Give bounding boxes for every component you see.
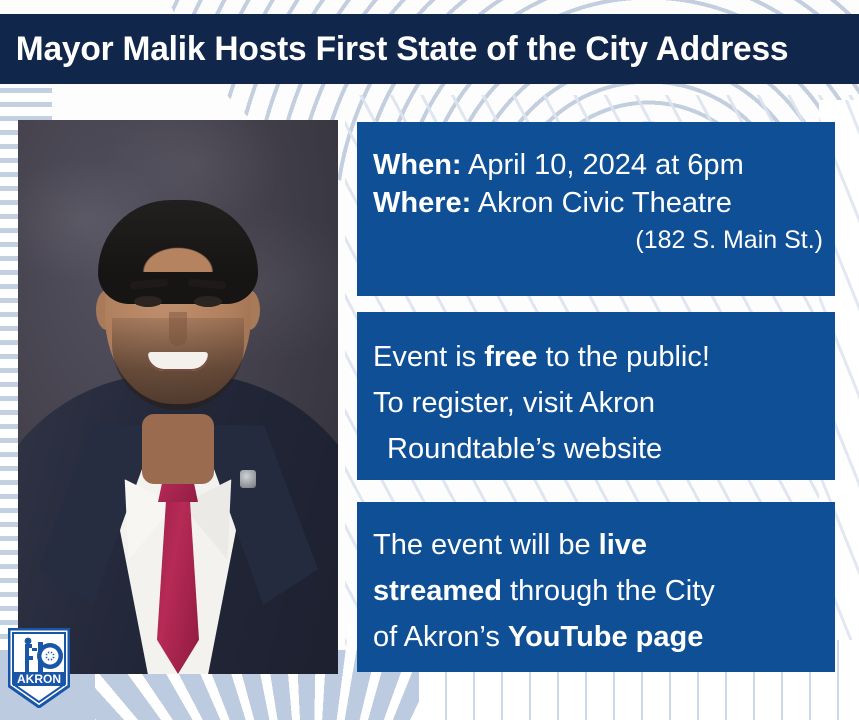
page-title: Mayor Malik Hosts First State of the Cit…	[0, 30, 788, 69]
portrait-eye-left	[134, 296, 162, 307]
akron-logo-icon: AKRON	[8, 628, 70, 708]
streamed-emphasis: streamed	[373, 575, 502, 607]
when-value: April 10, 2024 at 6pm	[462, 149, 744, 181]
portrait-smile	[148, 352, 208, 371]
live-line-1: The event will be live	[373, 522, 823, 568]
mayor-portrait-photo	[18, 120, 338, 674]
free-line-1-c: to the public!	[537, 341, 710, 373]
portrait-eye-right	[194, 296, 222, 307]
header-banner: Mayor Malik Hosts First State of the Cit…	[0, 14, 859, 84]
portrait-nose	[169, 312, 187, 346]
live-line-1-a: The event will be	[373, 529, 599, 561]
portrait-neck	[142, 414, 214, 484]
free-line-3: Roundtable’s website	[373, 426, 823, 472]
event-where-line: Where: Akron Civic Theatre	[373, 184, 823, 222]
event-details-box: When: April 10, 2024 at 6pm Where: Akron…	[357, 122, 835, 296]
registration-box: Event is free to the public! To register…	[357, 312, 835, 480]
where-value: Akron Civic Theatre	[471, 187, 732, 219]
live-line-3-a: of Akron’s	[373, 621, 508, 653]
akron-city-logo: AKRON	[8, 628, 70, 708]
live-line-2-c: through the City	[502, 575, 715, 607]
live-emphasis: live	[599, 529, 647, 561]
free-line-2: To register, visit Akron	[373, 380, 823, 426]
live-line-2: streamed through the City	[373, 568, 823, 614]
event-when-line: When: April 10, 2024 at 6pm	[373, 146, 823, 184]
live-line-3: of Akron’s YouTube page	[373, 614, 823, 660]
free-line-1-a: Event is	[373, 341, 484, 373]
event-address-line: (182 S. Main St.)	[373, 222, 823, 258]
portrait-lapel-pin	[240, 470, 256, 488]
free-line-1: Event is free to the public!	[373, 334, 823, 380]
youtube-emphasis: YouTube page	[508, 621, 703, 653]
when-label: When:	[373, 149, 462, 181]
free-emphasis: free	[484, 341, 537, 373]
livestream-box: The event will be live streamed through …	[357, 502, 835, 672]
akron-wordmark: AKRON	[17, 672, 61, 686]
poster-canvas: Mayor Malik Hosts First State of the Cit…	[0, 0, 859, 720]
where-label: Where:	[373, 187, 471, 219]
